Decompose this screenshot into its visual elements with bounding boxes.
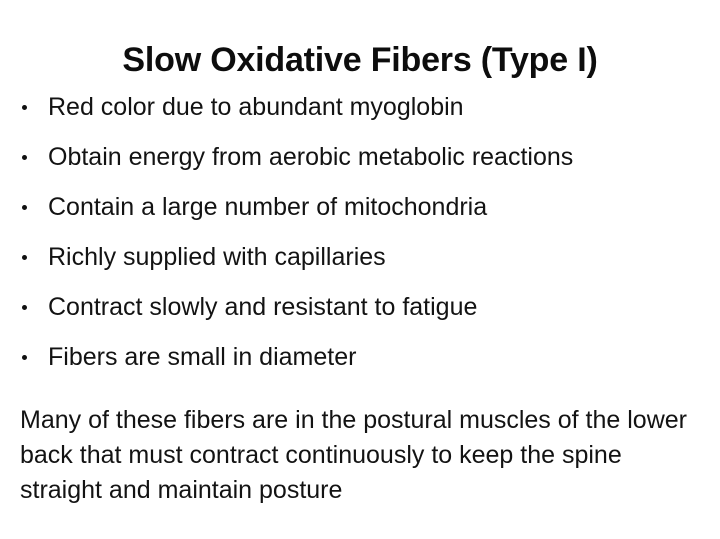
bullet-point-icon [22, 155, 27, 160]
list-item: Richly supplied with capillaries [0, 232, 720, 282]
list-item: Contract slowly and resistant to fatigue [0, 282, 720, 332]
slide-canvas: Slow Oxidative Fibers (Type I) Red color… [0, 0, 720, 539]
list-item-label: Richly supplied with capillaries [48, 242, 386, 272]
bullet-point-icon [22, 205, 27, 210]
list-item-label: Obtain energy from aerobic metabolic rea… [48, 142, 573, 172]
list-item: Fibers are small in diameter [0, 332, 720, 382]
bullet-point-icon [22, 305, 27, 310]
closing-paragraph: Many of these fibers are in the postural… [20, 403, 710, 508]
bullet-point-icon [22, 255, 27, 260]
page-title: Slow Oxidative Fibers (Type I) [0, 39, 720, 81]
list-item: Obtain energy from aerobic metabolic rea… [0, 132, 720, 182]
bullet-list: Red color due to abundant myoglobin Obta… [0, 82, 720, 382]
bullet-point-icon [22, 105, 27, 110]
bullet-point-icon [22, 355, 27, 360]
list-item: Contain a large number of mitochondria [0, 182, 720, 232]
list-item: Red color due to abundant myoglobin [0, 82, 720, 132]
list-item-label: Contain a large number of mitochondria [48, 192, 487, 222]
list-item-label: Fibers are small in diameter [48, 342, 356, 372]
list-item-label: Red color due to abundant myoglobin [48, 92, 464, 122]
list-item-label: Contract slowly and resistant to fatigue [48, 292, 477, 322]
